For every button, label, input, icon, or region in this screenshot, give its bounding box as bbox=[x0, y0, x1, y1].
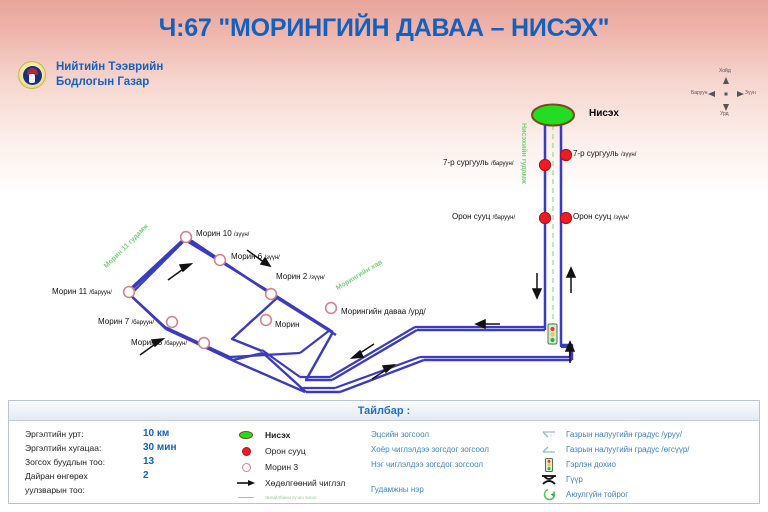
stat-value: 30 мин bbox=[143, 441, 177, 455]
stoptype-label: Нэг чиглэлдээ зогсдог зогсоол bbox=[371, 457, 536, 472]
icon-label: Гүүр bbox=[566, 475, 583, 484]
stop-label-7r-surguuli-zuun: 7-р сургууль /зүүн/ bbox=[573, 149, 636, 158]
stop-label-morin: Морин bbox=[275, 320, 300, 329]
stop-label-morin-3: Морин 3 /баруун/ bbox=[131, 338, 187, 347]
stop-label-7r-surguuli-baruun: 7-р сургууль /баруун/ bbox=[443, 158, 514, 167]
organization-block: Нийтийн Тээврийн Бодлогын Газар bbox=[18, 60, 163, 90]
legend-symbol-row: Энгийлбаны хүчин чигэл bbox=[237, 491, 367, 503]
stoptype-label: Эцсийн зогсоол bbox=[371, 427, 536, 442]
symbol-label: Нисэх bbox=[265, 430, 290, 440]
roundabout-icon bbox=[541, 488, 557, 501]
stat-value: 13 bbox=[143, 455, 154, 469]
stop-label-morin-2: Морин 2 /зүүн/ bbox=[276, 272, 325, 281]
svg-text:°: ° bbox=[550, 434, 552, 439]
legend-stat-row: Дайран өнгөрөх уулзварын тоо: 2 bbox=[25, 469, 240, 497]
legend-icon-row: Аюулгүйн тойрог bbox=[541, 487, 756, 502]
terminal-label: Нисэх bbox=[589, 108, 619, 119]
emblem-icon bbox=[18, 61, 46, 89]
icon-label: Аюулгүйн тойрог bbox=[566, 490, 628, 499]
terminal-marker bbox=[532, 105, 574, 126]
green-ellipse-icon bbox=[237, 431, 255, 439]
icon-label: Газрын налуугийн градус /өгсүүр/ bbox=[566, 445, 689, 454]
symbol-label: Морин 3 bbox=[265, 462, 298, 472]
icon-label: Газрын налуугийн градус /уруу/ bbox=[566, 430, 682, 439]
legend-symbol-row: Морин 3 bbox=[237, 459, 367, 475]
open-circle-icon bbox=[237, 463, 255, 472]
legend-stats-column: Эргэлтийн урт: 10 км Эргэлтийн хугацаа: … bbox=[25, 427, 240, 497]
stat-value: 10 км bbox=[143, 427, 169, 441]
green-dash-icon bbox=[237, 497, 255, 498]
legend-title: Тайлбар : bbox=[358, 405, 411, 417]
symbol-label: Хөдөлгөөний чиглэл bbox=[265, 478, 345, 488]
legend-stat-row: Эргэлтийн хугацаа: 30 мин bbox=[25, 441, 240, 455]
stop-markers-open bbox=[124, 232, 337, 349]
legend-symbol-row: Нисэх bbox=[237, 427, 367, 443]
legend-icon-row: Гэрлэн дохио bbox=[541, 457, 756, 472]
legend-stoptypes-column: Эцсийн зогсоол Хоёр чиглэлдээ зогсдог зо… bbox=[371, 427, 536, 497]
stat-label: Эргэлтийн хугацаа: bbox=[25, 441, 143, 455]
icon-label: Гэрлэн дохио bbox=[566, 460, 616, 469]
route-map: Нисэх 7-р сургууль /зүүн/ 7-р сургууль /… bbox=[0, 95, 768, 395]
stoptype-label: Гудамжны нэр bbox=[371, 482, 536, 497]
symbol-label: Орон сууц bbox=[265, 446, 306, 456]
stoptype-label: Хоёр чиглэлдээ зогсдог зогсоол bbox=[371, 442, 536, 457]
page-title: Ч:67 "МОРИНГИЙН ДАВАА – НИСЭХ" bbox=[0, 14, 768, 43]
stop-label-oron-suuts-baruun: Орон сууц /баруун/ bbox=[452, 212, 515, 221]
arrow-right-icon bbox=[237, 479, 255, 487]
legend-icons-column: ° Газрын налуугийн градус /уруу/ Газрын … bbox=[541, 427, 756, 502]
slope-up-icon bbox=[541, 445, 557, 454]
stat-label: Эргэлтийн урт: bbox=[25, 427, 143, 441]
legend-icon-row: Газрын налуугийн градус /өгсүүр/ bbox=[541, 442, 756, 457]
legend-stat-row: Эргэлтийн урт: 10 км bbox=[25, 427, 240, 441]
legend-icon-row: ° Газрын налуугийн градус /уруу/ bbox=[541, 427, 756, 442]
stop-label-morin-7: Морин 7 /баруун/ bbox=[98, 317, 154, 326]
symbol-label: Энгийлбаны хүчин чигэл bbox=[265, 495, 316, 500]
legend-icon-row: Гүүр bbox=[541, 472, 756, 487]
legend-header: Тайлбар : bbox=[9, 401, 759, 421]
legend-symbols-column: Нисэх Орон сууц Морин 3 Хөдөлгөөний чигл… bbox=[237, 427, 367, 503]
bridge-icon bbox=[541, 474, 557, 486]
route-svg bbox=[0, 95, 768, 395]
compass-north-label: Хойд bbox=[719, 68, 731, 74]
stat-label: Зогсох буудлын тоо: bbox=[25, 455, 143, 469]
street-label-nisekhiin-gudamj: Нисэхийн гудамж bbox=[520, 123, 527, 184]
red-dot-icon bbox=[237, 447, 255, 456]
stop-label-morin-10: Морин 10 /зүүн/ bbox=[196, 229, 249, 238]
legend-panel: Тайлбар : Эргэлтийн урт: 10 км Эргэлтийн… bbox=[8, 400, 760, 504]
stop-label-morin-11: Морин 11 /баруун/ bbox=[52, 287, 112, 296]
legend-body: Эргэлтийн урт: 10 км Эргэлтийн хугацаа: … bbox=[9, 421, 759, 503]
organization-name: Нийтийн Тээврийн Бодлогын Газар bbox=[56, 60, 163, 90]
legend-stat-row: Зогсох буудлын тоо: 13 bbox=[25, 455, 240, 469]
stop-label-morin-6: Морин 6 /зүүн/ bbox=[231, 252, 280, 261]
traffic-light-icon bbox=[548, 324, 557, 344]
route-map-page: Ч:67 "МОРИНГИЙН ДАВАА – НИСЭХ" Нийтийн Т… bbox=[0, 0, 768, 512]
slope-down-icon: ° bbox=[541, 430, 557, 439]
legend-symbol-row: Орон сууц bbox=[237, 443, 367, 459]
stat-value: 2 bbox=[143, 469, 149, 497]
traffic-light-icon bbox=[541, 458, 557, 472]
stop-label-moringiin-davaa: Морингийн даваа /урд/ bbox=[341, 307, 426, 316]
legend-symbol-row: Хөдөлгөөний чиглэл bbox=[237, 475, 367, 491]
stop-label-oron-suuts-zuun: Орон сууц /зүүн/ bbox=[573, 212, 629, 221]
stat-label: Дайран өнгөрөх уулзварын тоо: bbox=[25, 469, 143, 497]
